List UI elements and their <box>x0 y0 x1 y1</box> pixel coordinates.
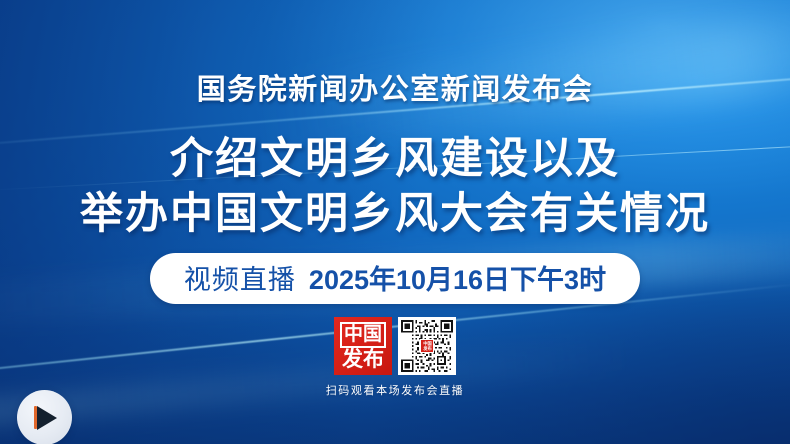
live-badge-label: 视频直播 <box>184 258 296 297</box>
play-button[interactable] <box>17 390 72 444</box>
qr-code-icon[interactable]: 中国 发布 <box>398 317 456 375</box>
play-icon-accent <box>34 406 37 429</box>
brand-and-qr-row: 中国 发布 <box>334 317 456 375</box>
poster-content: 国务院新闻办公室新闻发布会 介绍文明乡风建设以及 举办中国文明乡风大会有关情况 … <box>0 0 790 444</box>
title-line-2: 举办中国文明乡风大会有关情况 <box>80 186 710 242</box>
organizer-heading: 国务院新闻办公室新闻发布会 <box>197 66 594 108</box>
livestream-poster: 国务院新闻办公室新闻发布会 介绍文明乡风建设以及 举办中国文明乡风大会有关情况 … <box>0 0 790 444</box>
qr-center-logo: 中国 发布 <box>420 339 434 353</box>
qr-caption: 扫码观看本场发布会直播 <box>326 382 465 398</box>
live-badge-datetime: 2025年10月16日下午3时 <box>309 258 606 297</box>
title-line-1: 介绍文明乡风建设以及 <box>80 132 710 186</box>
play-icon <box>37 406 57 430</box>
qr-center-line-2: 发布 <box>423 346 432 351</box>
brand-logo-line-2: 发布 <box>342 349 384 371</box>
brand-logo-line-1: 中国 <box>340 322 386 348</box>
brand-logo: 中国 发布 <box>334 317 392 375</box>
page-title: 介绍文明乡风建设以及 举办中国文明乡风大会有关情况 <box>80 132 710 242</box>
live-badge: 视频直播 2025年10月16日下午3时 <box>150 253 640 304</box>
